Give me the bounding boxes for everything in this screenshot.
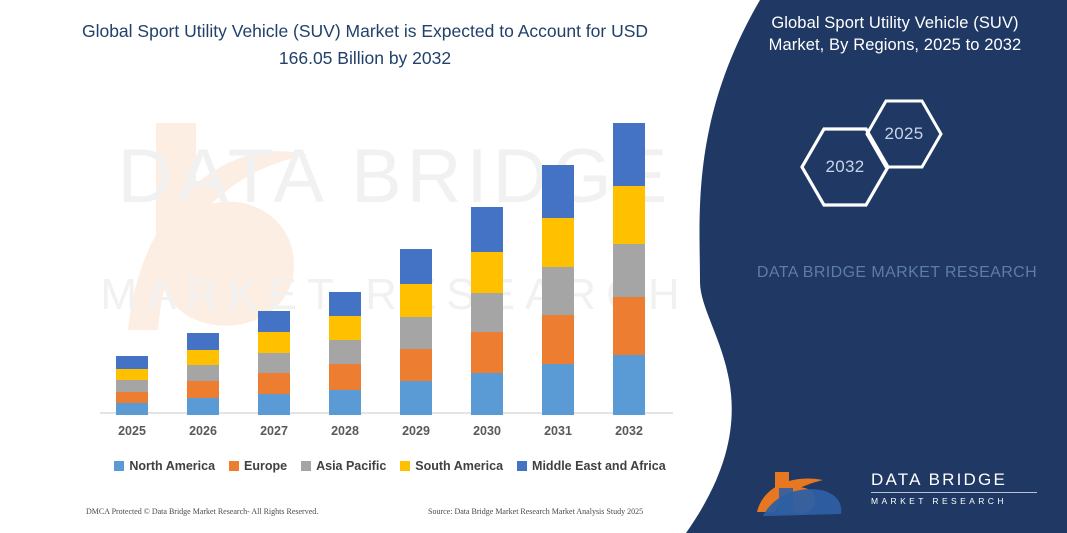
bar-segment-europe-2025 bbox=[116, 392, 148, 404]
legend-label: Europe bbox=[244, 459, 287, 473]
legend-label: Asia Pacific bbox=[316, 459, 386, 473]
bar-segment-middle-east-and-africa-2028 bbox=[329, 292, 361, 316]
bar-segment-north-america-2030 bbox=[471, 373, 503, 415]
bar-segment-europe-2032 bbox=[613, 297, 645, 355]
bar-2030 bbox=[471, 207, 503, 415]
bar-segment-europe-2031 bbox=[542, 315, 574, 365]
bar-segment-europe-2026 bbox=[187, 381, 219, 398]
infographic-canvas: Global Sport Utility Vehicle (SUV) Marke… bbox=[0, 0, 1067, 533]
bar-segment-europe-2027 bbox=[258, 373, 290, 394]
bar-segment-south-america-2030 bbox=[471, 252, 503, 293]
x-axis-label-2032: 2032 bbox=[599, 424, 659, 438]
hexagon-group: 2032 2025 bbox=[799, 98, 1049, 208]
bar-2032 bbox=[613, 123, 645, 415]
legend-item-europe[interactable]: Europe bbox=[229, 459, 287, 473]
bar-segment-europe-2028 bbox=[329, 364, 361, 389]
bar-segment-asia-pacific-2030 bbox=[471, 293, 503, 332]
legend-item-south-america[interactable]: South America bbox=[400, 459, 503, 473]
logo-main-text: DATA BRIDGE bbox=[871, 470, 1037, 490]
bar-segment-asia-pacific-2029 bbox=[400, 317, 432, 349]
x-axis-label-2027: 2027 bbox=[244, 424, 304, 438]
panel-title: Global Sport Utility Vehicle (SUV) Marke… bbox=[745, 12, 1045, 56]
bar-segment-north-america-2027 bbox=[258, 394, 290, 415]
bar-2028 bbox=[329, 292, 361, 415]
bar-segment-middle-east-and-africa-2027 bbox=[258, 311, 290, 332]
x-axis-labels: 20252026202720282029203020312032 bbox=[100, 424, 680, 446]
legend-item-middle-east-and-africa[interactable]: Middle East and Africa bbox=[517, 459, 666, 473]
bar-segment-south-america-2028 bbox=[329, 316, 361, 340]
bar-segment-middle-east-and-africa-2032 bbox=[613, 123, 645, 186]
bar-segment-north-america-2029 bbox=[400, 381, 432, 415]
legend-swatch-icon bbox=[301, 461, 311, 471]
bar-2026 bbox=[187, 333, 219, 415]
legend-item-asia-pacific[interactable]: Asia Pacific bbox=[301, 459, 386, 473]
bar-segment-north-america-2031 bbox=[542, 364, 574, 415]
x-axis-label-2025: 2025 bbox=[102, 424, 162, 438]
bar-segment-north-america-2026 bbox=[187, 398, 219, 415]
legend-label: South America bbox=[415, 459, 503, 473]
logo-sub-text: MARKET RESEARCH bbox=[871, 496, 1037, 506]
bar-segment-asia-pacific-2026 bbox=[187, 365, 219, 381]
x-axis-label-2031: 2031 bbox=[528, 424, 588, 438]
chart-legend: North AmericaEuropeAsia PacificSouth Ame… bbox=[100, 455, 680, 477]
bar-segment-south-america-2031 bbox=[542, 218, 574, 268]
bar-segment-south-america-2027 bbox=[258, 332, 290, 353]
stacked-bar-chart bbox=[100, 120, 680, 415]
hexagon-2025-label: 2025 bbox=[864, 98, 944, 170]
x-axis-label-2026: 2026 bbox=[173, 424, 233, 438]
legend-swatch-icon bbox=[517, 461, 527, 471]
logo-divider bbox=[871, 492, 1037, 493]
bar-segment-middle-east-and-africa-2030 bbox=[471, 207, 503, 251]
bar-segment-middle-east-and-africa-2026 bbox=[187, 333, 219, 350]
bar-segment-north-america-2025 bbox=[116, 403, 148, 415]
bar-segment-asia-pacific-2032 bbox=[613, 244, 645, 297]
brand-subtitle: DATA BRIDGE MARKET RESEARCH bbox=[747, 262, 1047, 284]
bar-segment-middle-east-and-africa-2029 bbox=[400, 249, 432, 285]
x-axis-label-2028: 2028 bbox=[315, 424, 375, 438]
legend-swatch-icon bbox=[400, 461, 410, 471]
bar-segment-south-america-2025 bbox=[116, 369, 148, 381]
bar-segment-asia-pacific-2027 bbox=[258, 353, 290, 373]
bar-segment-asia-pacific-2031 bbox=[542, 267, 574, 314]
bar-segment-north-america-2028 bbox=[329, 390, 361, 415]
bridge-logo-icon bbox=[749, 466, 859, 518]
legend-swatch-icon bbox=[114, 461, 124, 471]
bar-segment-middle-east-and-africa-2031 bbox=[542, 165, 574, 218]
bar-2027 bbox=[258, 311, 290, 415]
bar-segment-asia-pacific-2028 bbox=[329, 340, 361, 364]
legend-item-north-america[interactable]: North America bbox=[114, 459, 215, 473]
bar-segment-south-america-2032 bbox=[613, 186, 645, 244]
bar-segment-south-america-2029 bbox=[400, 284, 432, 317]
footer: DMCA Protected © Data Bridge Market Rese… bbox=[0, 507, 700, 527]
legend-swatch-icon bbox=[229, 461, 239, 471]
bar-segment-south-america-2026 bbox=[187, 350, 219, 366]
legend-label: Middle East and Africa bbox=[532, 459, 666, 473]
bar-segment-europe-2030 bbox=[471, 332, 503, 373]
bar-segment-asia-pacific-2025 bbox=[116, 380, 148, 392]
bar-segment-europe-2029 bbox=[400, 349, 432, 382]
right-panel-content: Global Sport Utility Vehicle (SUV) Marke… bbox=[737, 0, 1067, 533]
bar-2029 bbox=[400, 249, 432, 416]
company-logo: DATA BRIDGE MARKET RESEARCH bbox=[749, 466, 1049, 518]
hexagon-2025: 2025 bbox=[864, 98, 944, 170]
x-axis-label-2030: 2030 bbox=[457, 424, 517, 438]
bar-segment-middle-east-and-africa-2025 bbox=[116, 356, 148, 369]
x-axis-label-2029: 2029 bbox=[386, 424, 446, 438]
bar-2025 bbox=[116, 356, 148, 415]
bar-2031 bbox=[542, 165, 574, 415]
logo-wordmark: DATA BRIDGE MARKET RESEARCH bbox=[871, 470, 1037, 506]
footer-source: Source: Data Bridge Market Research Mark… bbox=[428, 507, 643, 516]
footer-copyright: DMCA Protected © Data Bridge Market Rese… bbox=[86, 507, 318, 516]
legend-label: North America bbox=[129, 459, 215, 473]
bar-segment-north-america-2032 bbox=[613, 355, 645, 415]
page-title: Global Sport Utility Vehicle (SUV) Marke… bbox=[60, 18, 670, 72]
